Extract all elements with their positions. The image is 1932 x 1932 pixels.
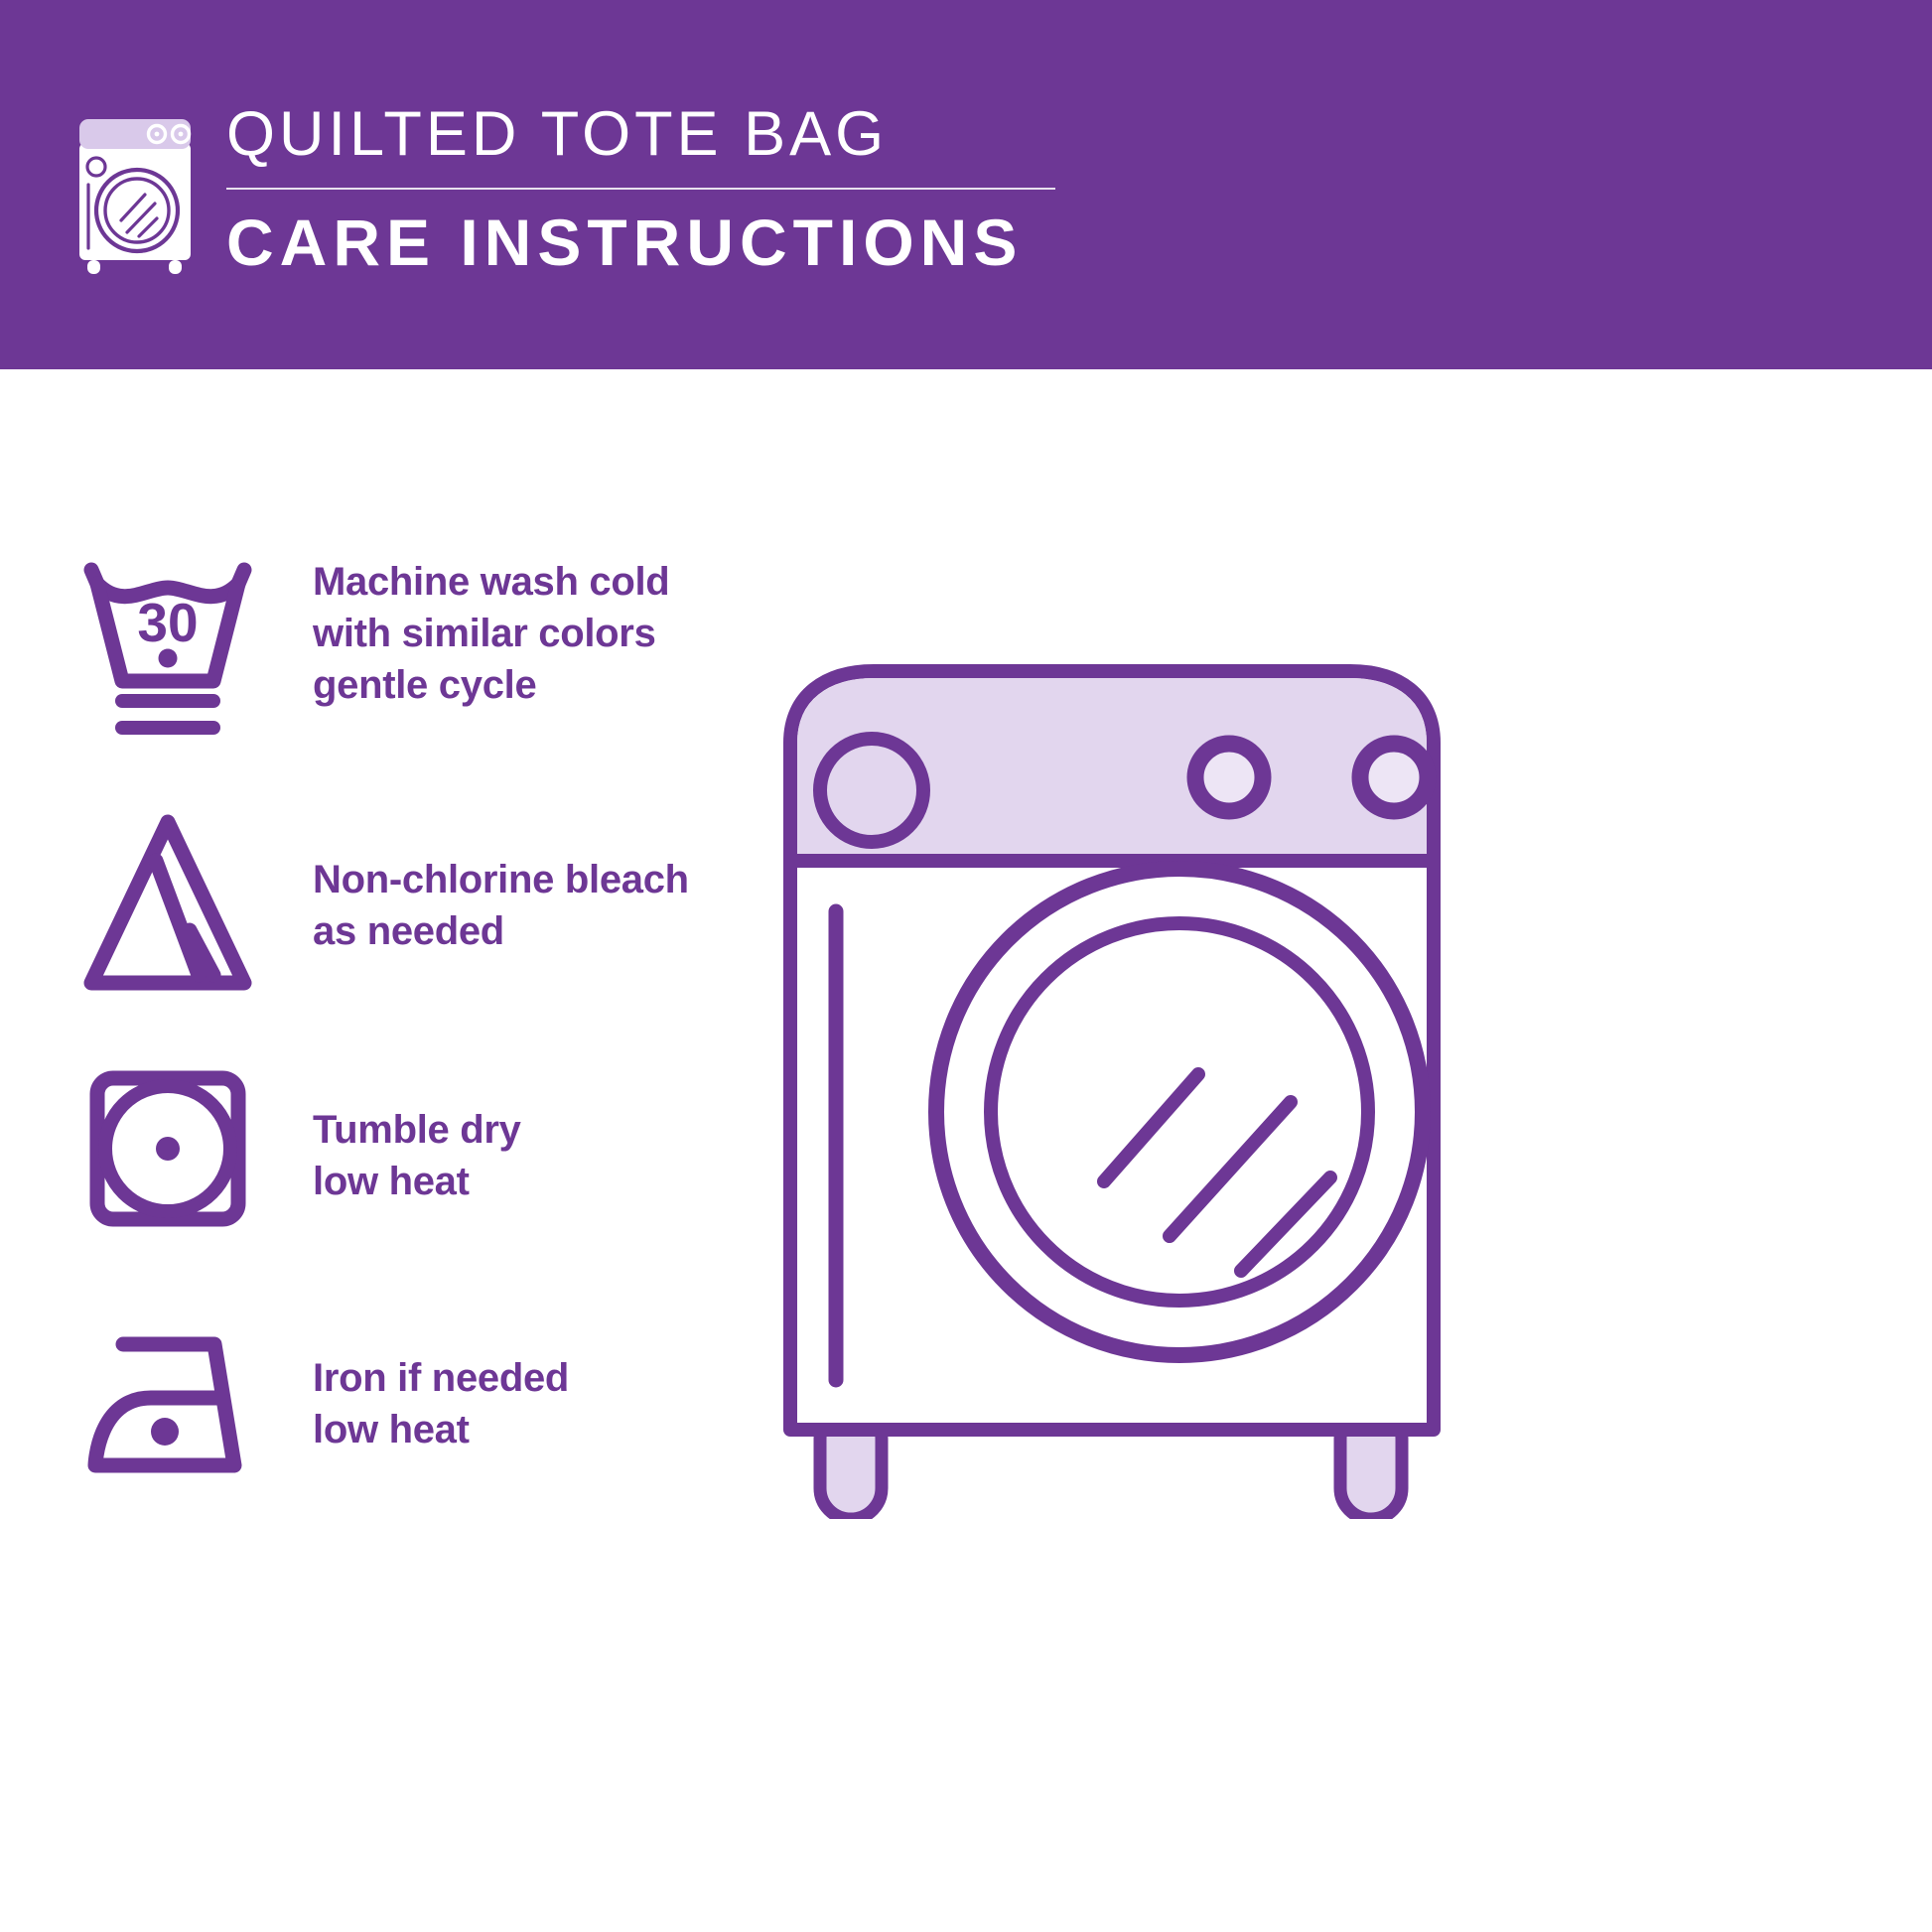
care-instruction-list: 30 Machine wash cold with similar colors… <box>0 369 784 1932</box>
title-divider <box>226 188 1055 190</box>
list-item-label: Non-chlorine bleach as needed <box>313 854 689 957</box>
product-title: QUILTED TOTE BAG <box>226 103 1070 166</box>
tumble-dry-low-heat-icon <box>77 1058 258 1257</box>
iron-low-heat-icon <box>77 1307 258 1505</box>
label-line-1: Tumble dry <box>313 1104 521 1156</box>
list-item: Non-chlorine bleach as needed <box>0 796 784 1025</box>
washing-machine-icon <box>66 109 214 276</box>
label-line-2: with similar colors <box>313 608 669 659</box>
door <box>936 869 1423 1355</box>
list-item: Iron if needed low heat <box>0 1293 784 1521</box>
label-line-1: Non-chlorine bleach <box>313 854 689 905</box>
list-item-label: Iron if needed low heat <box>313 1352 569 1455</box>
label-line-2: low heat <box>313 1404 569 1455</box>
label-line-1: Iron if needed <box>313 1352 569 1404</box>
label-line-3: gentle cycle <box>313 659 669 711</box>
list-item-label: Machine wash cold with similar colors ge… <box>313 556 669 711</box>
non-chlorine-bleach-triangle-icon <box>77 806 258 1005</box>
list-item-label: Tumble dry low heat <box>313 1104 521 1207</box>
knob-left <box>1195 744 1263 811</box>
list-item: Tumble dry low heat <box>0 1042 784 1271</box>
washing-machine-illustration <box>755 496 1529 1519</box>
wash-tub-30-gentle-icon: 30 <box>77 554 258 753</box>
knob-right <box>1360 744 1428 811</box>
header-text-block: QUILTED TOTE BAG CARE INSTRUCTIONS <box>226 103 1070 275</box>
label-line-2: as needed <box>313 905 689 957</box>
door-inner-ring <box>991 923 1368 1301</box>
list-item: 30 Machine wash cold with similar colors… <box>0 546 784 774</box>
header-banner: QUILTED TOTE BAG CARE INSTRUCTIONS <box>0 0 1932 369</box>
infographic-page: QUILTED TOTE BAG CARE INSTRUCTIONS 30 <box>0 0 1932 1932</box>
label-line-2: low heat <box>313 1156 521 1207</box>
wash-temperature-label: 30 <box>137 592 198 653</box>
page-title: CARE INSTRUCTIONS <box>226 209 1070 275</box>
label-line-1: Machine wash cold <box>313 556 669 608</box>
